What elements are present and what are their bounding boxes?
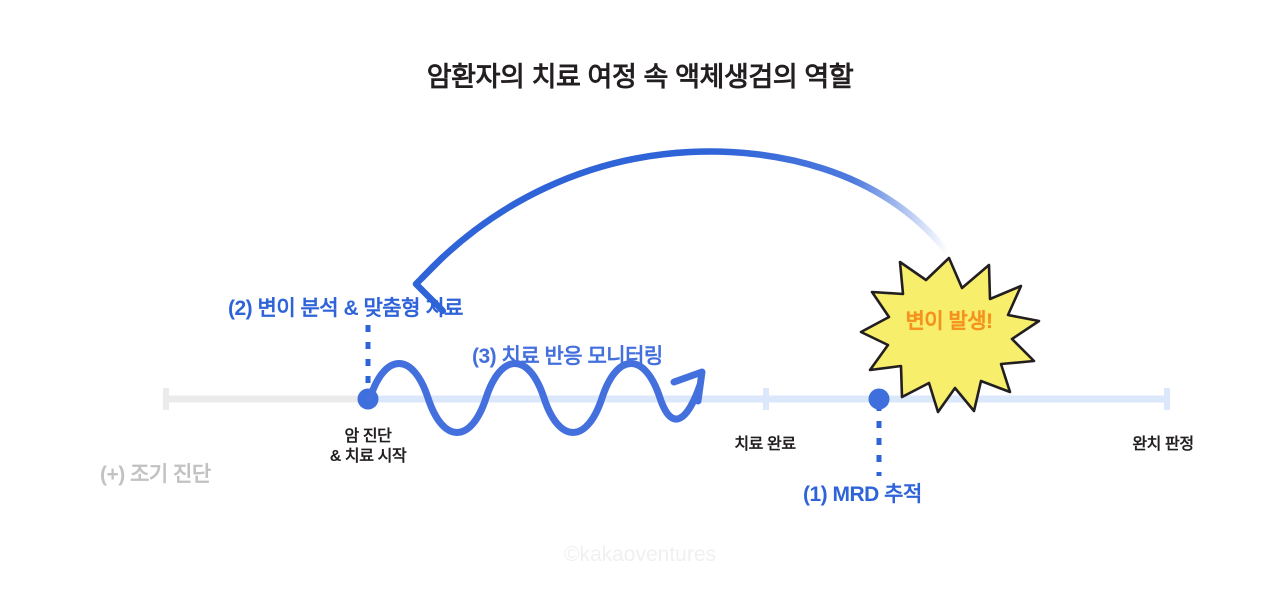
- step-2-label: (2) 변이 분석 & 맞춤형 치료: [228, 296, 463, 322]
- monitoring-wave: [370, 364, 702, 433]
- relapse-burst-shape[interactable]: [861, 258, 1039, 412]
- step-3-label: (3) 치료 반응 모니터링: [472, 344, 663, 370]
- step-1-label: (1) MRD 추적: [803, 482, 922, 508]
- milestone-label-line2: & 치료 시작: [330, 447, 407, 467]
- page-title: 암환자의 치료 여정 속 액체생검의 역할: [0, 55, 1280, 94]
- relapse-burst-label: 변이 발생!: [905, 309, 992, 335]
- timeline-track-blue: [368, 388, 1170, 410]
- milestone-label-treatment-complete: 치료 완료: [734, 435, 795, 455]
- milestone-label-line1: 암 진단: [330, 427, 407, 447]
- infographic-canvas: 암환자의 치료 여정 속 액체생검의 역할: [0, 0, 1280, 597]
- milestone-label-complete-remission: 완치 판정: [1132, 435, 1193, 455]
- timeline-track-gray: [163, 388, 368, 410]
- feedback-arc-arrow: [416, 152, 948, 311]
- milestone-dot-mrd[interactable]: [869, 389, 890, 410]
- early-diagnosis-note: (+) 조기 진단: [100, 462, 211, 488]
- watermark: ©kakaoventures: [0, 543, 1280, 567]
- milestone-dot-diagnosis[interactable]: [358, 389, 379, 410]
- milestone-label-cancer-diagnosis: 암 진단 & 치료 시작: [330, 427, 407, 466]
